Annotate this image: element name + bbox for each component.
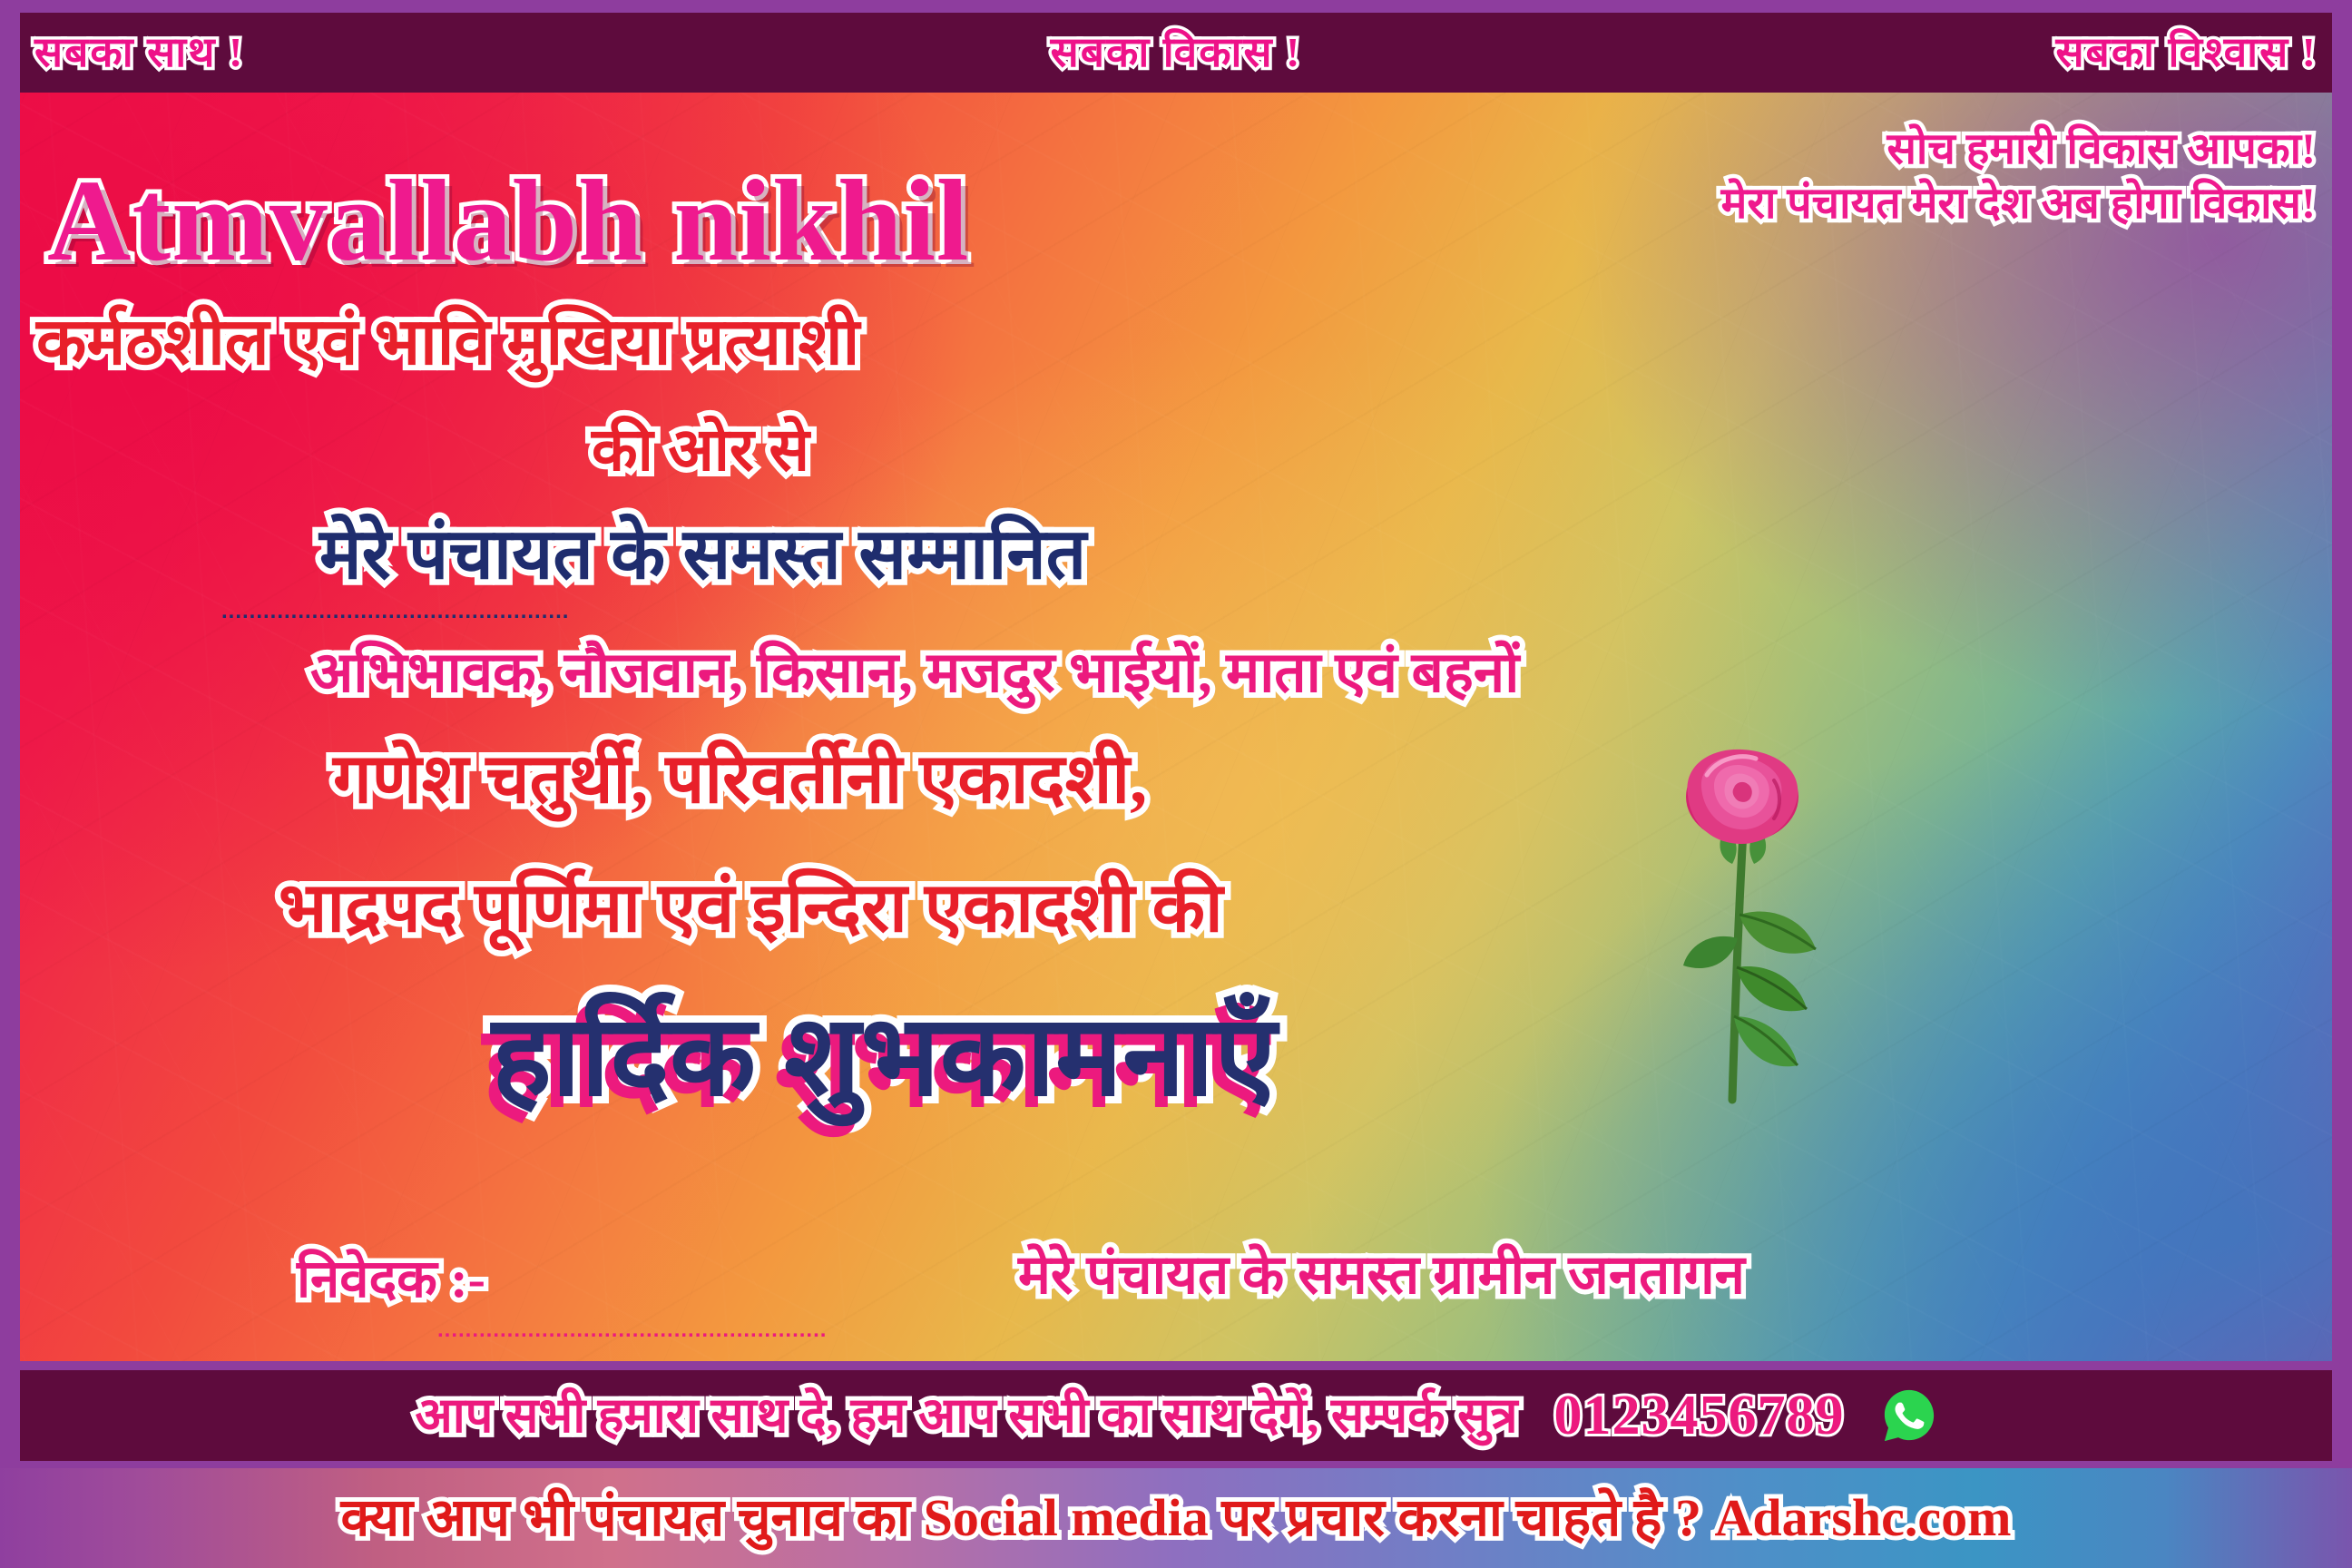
header-right-slogans: सोच हमारी विकास आपका! मेरा पंचायत मेरा द… — [1721, 127, 2316, 228]
slogan-sabka-vishwas: सबका विश्वास ! — [2055, 31, 2318, 74]
requester-label: निवेदक :- — [297, 1252, 485, 1308]
slogan-sabka-vikas: सबका विकास ! — [1051, 31, 1302, 74]
line-greeting-hardik-shubhkamnaye: हार्दिक शुभकामनाएँ — [492, 998, 1277, 1116]
footer-promo-bar: क्या आप भी पंचायत चुनाव का Social media … — [0, 1468, 2352, 1568]
dotted-placeholder-requester: ........................................… — [437, 1318, 1073, 1343]
slogan-sabka-saath: सबका साथ ! — [34, 31, 244, 74]
requester-value: मेरे पंचायत के समस्त ग्रामीन जनतागन — [1018, 1247, 1745, 1304]
top-slogan-left-slot: सबका साथ ! — [20, 31, 796, 74]
top-slogan-center-slot: सबका विकास ! — [796, 31, 1557, 74]
line-addressee-secondary: अभिभावक, नौजवान, किसान, मजदुर भाईयों, मा… — [310, 644, 1519, 703]
line-ki-or-se: की ओर से — [20, 419, 1381, 482]
top-slogan-bar: सबका साथ ! सबका विकास ! सबका विश्वास ! — [20, 13, 2332, 93]
whatsapp-icon[interactable] — [1881, 1387, 1937, 1444]
line-festival-one: गणेश चतुर्थी, परिवर्तीनी एकादशी, — [333, 744, 1147, 817]
top-slogan-right-slot: सबका विश्वास ! — [1556, 31, 2332, 74]
footer-contact-bar: आप सभी हमारा साथ दे, हम आप सभी का साथ दे… — [20, 1370, 2332, 1461]
header-slogan-line-2: मेरा पंचायत मेरा देश अब होगा विकास! — [1721, 181, 2316, 227]
footer-promo-text[interactable]: क्या आप भी पंचायत चुनाव का Social media … — [341, 1491, 2012, 1546]
line-festival-two: भाद्रपद पूर्णिमा एवं इन्दिरा एकादशी की — [279, 873, 1223, 946]
footer-support-text: आप सभी हमारा साथ दे, हम आप सभी का साथ दे… — [416, 1390, 1518, 1442]
line-designation: कर्मठशील एवं भावि मुखिया प्रत्याशी — [36, 309, 859, 377]
dotted-placeholder-addressee: ........................................… — [221, 599, 639, 624]
line-addressee-primary: मेरे पंचायत के समस्त सम्मानित — [319, 517, 1086, 592]
candidate-name-title: Atmvallabh nikhil — [47, 154, 969, 288]
header-slogan-line-1: सोच हमारी विकास आपका! — [1721, 127, 2316, 172]
poster-canvas: सबका साथ ! सबका विकास ! सबका विश्वास ! A… — [0, 0, 2352, 1568]
footer-phone-number[interactable]: 0123456789 — [1554, 1384, 1845, 1448]
